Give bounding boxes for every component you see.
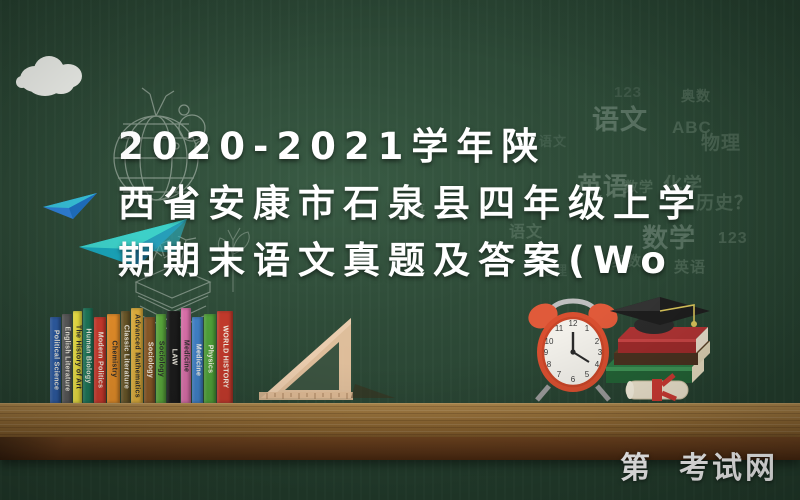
book-spine-title: Political Science — [52, 330, 59, 390]
svg-text:11: 11 — [555, 324, 564, 333]
book-spine: Human Biology — [83, 308, 93, 403]
book-spine: Modern Politics — [94, 317, 106, 403]
book-spine-title: Modern Politics — [97, 332, 104, 389]
book-spine: Physics — [204, 314, 216, 403]
book-spine: Political Science — [50, 317, 61, 403]
book-spine-title: Human Biology — [85, 328, 92, 383]
svg-text:6: 6 — [571, 375, 576, 384]
wooden-shelf — [0, 403, 800, 437]
book-spine-title: English Literature — [64, 326, 71, 391]
background-word-8: 历史？ — [696, 189, 753, 215]
book-spine: Medicine — [192, 317, 203, 403]
site-watermark: 第 考试网 — [620, 443, 778, 487]
book-spine: Sociology — [144, 317, 155, 403]
background-word-9: 123 — [614, 84, 642, 101]
svg-text:1: 1 — [585, 324, 590, 333]
svg-text:10: 10 — [545, 337, 554, 346]
book-spine-title: Chemistry — [110, 340, 117, 377]
book-spine: English Literature — [62, 314, 72, 403]
book-spine: Advanced Mathematics — [131, 308, 143, 403]
book-spine-title: LAW — [170, 349, 177, 365]
book-spine: WORLD HISTORY — [217, 311, 233, 403]
book-spine: Chemistry — [107, 314, 120, 403]
svg-text:8: 8 — [547, 360, 552, 369]
book-spine-title: WORLD HISTORY — [222, 325, 229, 388]
book-spine-title: Advanced Mathematics — [134, 314, 141, 398]
page-title-line-3: 期期末语文真题及答案(Wo — [118, 232, 678, 289]
svg-text:9: 9 — [544, 348, 549, 357]
background-word-1: 奥数 — [681, 86, 711, 106]
page-title-line-1: 2020-2021学年陕 — [118, 118, 678, 175]
svg-text:7: 7 — [557, 370, 562, 379]
background-word-3: 物理 — [701, 128, 741, 155]
chalk-cloud-icon — [14, 52, 88, 98]
shelf-edge-shadow — [0, 437, 88, 460]
book-spine-title: Sociology — [158, 340, 165, 376]
watermark-suffix: 考试网 — [679, 443, 778, 487]
svg-text:5: 5 — [585, 370, 590, 379]
watermark-prefix: 第 — [620, 443, 653, 487]
book-spine: Classic Literature — [121, 311, 130, 403]
book-spine: The History of Art — [73, 311, 82, 403]
page-title: 2020-2021学年陕西省安康市石泉县四年级上学期期末语文真题及答案(Wo — [118, 118, 678, 289]
bookshelf-row: Political ScienceEnglish LiteratureThe H… — [50, 305, 234, 403]
book-spine-title: The History of Art — [74, 325, 81, 389]
books-and-graduation-cap — [600, 297, 732, 403]
book-spine: LAW — [167, 311, 180, 403]
background-word-14: 英语 — [674, 256, 706, 277]
book-spine-title: Classic Literature — [122, 325, 129, 389]
page-title-line-2: 西省安康市石泉县四年级上学 — [118, 175, 678, 232]
triangle-ruler — [255, 314, 403, 404]
book-spine-title: Physics — [207, 344, 214, 373]
book-spine: Medicine — [181, 308, 191, 403]
book-spine: Sociology — [156, 314, 166, 403]
svg-text:12: 12 — [569, 319, 578, 328]
book-spine-title: Medicine — [183, 339, 190, 371]
chalkboard-scene: 语文奥数ABC物理英语英语数学化学历史？123123语文数学奥数英语地理语文 — [0, 0, 800, 500]
book-spine-title: Medicine — [194, 344, 201, 376]
paper-plane-small-icon — [43, 193, 97, 219]
book-spine-title: Sociology — [146, 342, 153, 378]
background-word-10: 123 — [718, 230, 748, 248]
